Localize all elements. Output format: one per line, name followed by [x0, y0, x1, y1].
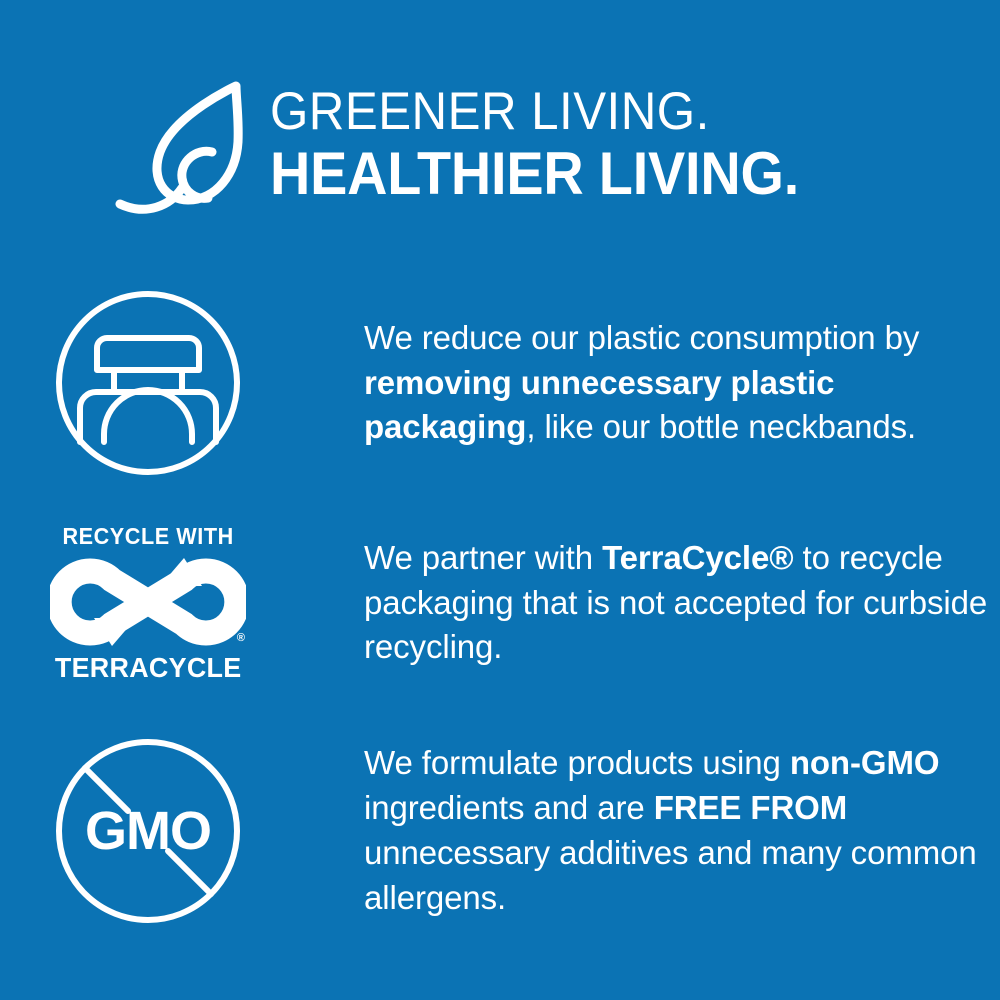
feature-icon-cell: RECYCLE WITH ® TERRACYCLE: [0, 508, 290, 698]
feature-text: We reduce our plastic consumption by rem…: [364, 316, 1000, 451]
feature-row-non-gmo: GMO We formulate products using non-GMO …: [0, 726, 1000, 936]
body-text: unnecessary additives and many common al…: [364, 834, 977, 916]
feature-text: We formulate products using non-GMO ingr…: [364, 741, 1000, 921]
terracycle-logo: RECYCLE WITH ® TERRACYCLE: [48, 523, 248, 684]
headline-block: GREENER LIVING. HEALTHIER LIVING.: [270, 85, 839, 204]
emphasis-text: TerraCycle®: [602, 539, 793, 576]
feature-icon-cell: GMO: [0, 726, 290, 936]
no-gmo-icon: GMO: [52, 735, 244, 927]
feature-text-cell: We formulate products using non-GMO ingr…: [290, 741, 1000, 921]
feature-text-cell: We partner with TerraCycle® to recycle p…: [290, 536, 1000, 671]
terracycle-top-text: RECYCLE WITH: [62, 523, 233, 550]
poster-header: GREENER LIVING. HEALTHIER LIVING.: [0, 62, 1000, 227]
feature-text-cell: We reduce our plastic consumption by rem…: [290, 316, 1000, 451]
headline-line-1: GREENER LIVING.: [270, 85, 799, 138]
leaf-icon: [108, 70, 258, 220]
body-text: We reduce our plastic consumption by: [364, 319, 919, 356]
bottle-in-circle-icon: [52, 287, 244, 479]
feature-row-terracycle: RECYCLE WITH ® TERRACYCLE: [0, 508, 1000, 698]
emphasis-text: non-GMO: [790, 744, 940, 781]
body-text: ingredients and are: [364, 789, 654, 826]
terracycle-mark-wrap: ®: [50, 554, 246, 650]
feature-icon-cell: [0, 286, 290, 480]
body-text: We formulate products using: [364, 744, 790, 781]
terracycle-bottom-text: TERRACYCLE: [55, 652, 242, 684]
greener-living-poster: GREENER LIVING. HEALTHIER LIVING.: [0, 0, 1000, 1000]
registered-mark: ®: [237, 633, 245, 644]
no-gmo-label: GMO: [85, 801, 211, 861]
infinity-recycle-arrows-icon: [50, 554, 246, 650]
feature-text: We partner with TerraCycle® to recycle p…: [364, 536, 1000, 671]
emphasis-text: FREE FROM: [654, 789, 847, 826]
body-text: , like our bottle neckbands.: [526, 408, 916, 445]
feature-row-plastic-reduction: We reduce our plastic consumption by rem…: [0, 286, 1000, 480]
headline-line-2: HEALTHIER LIVING.: [270, 144, 799, 204]
body-text: We partner with: [364, 539, 602, 576]
